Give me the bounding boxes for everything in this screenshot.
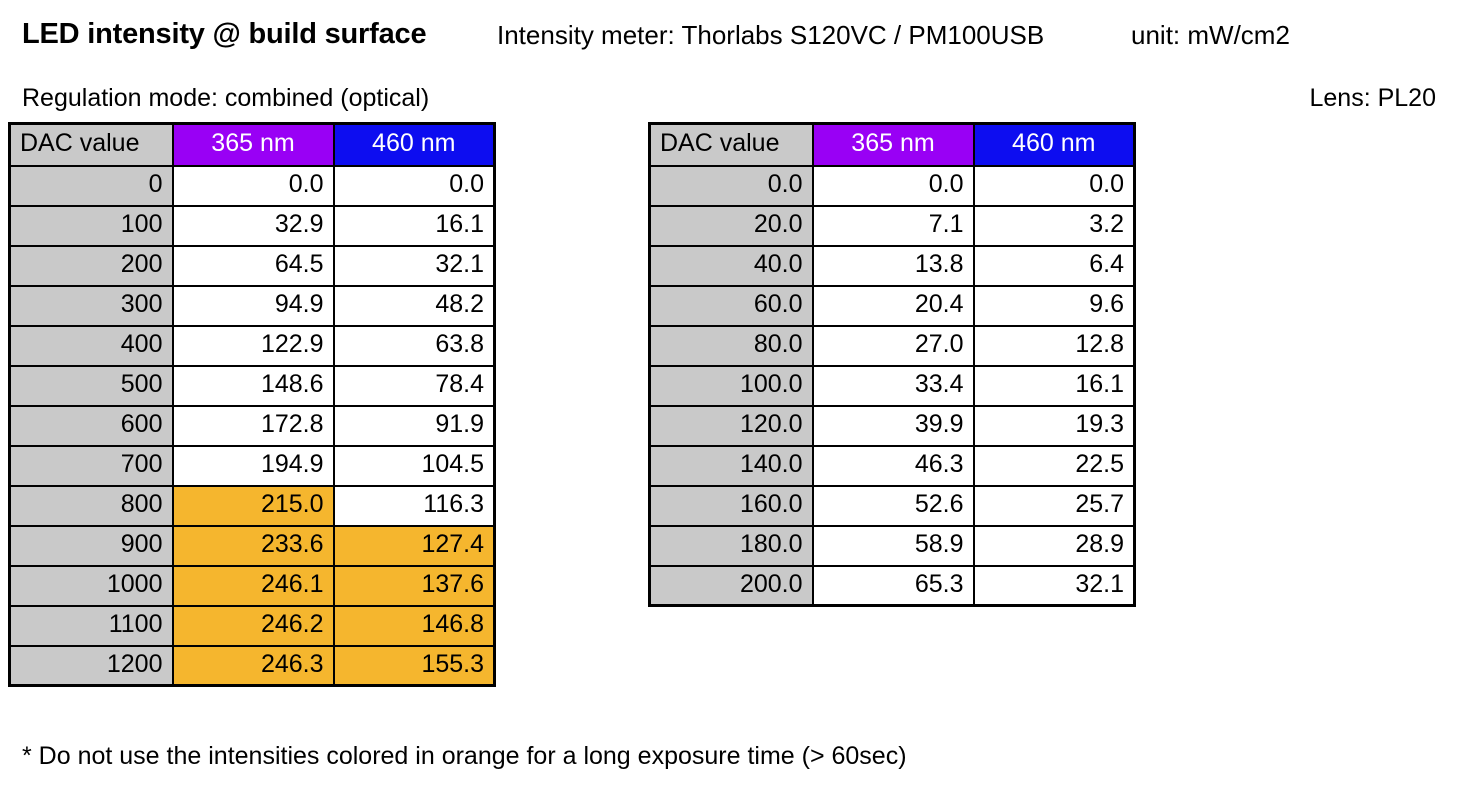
cell-dac-value: 0	[10, 166, 173, 206]
table-row: 180.058.928.9	[650, 526, 1135, 566]
table-row: 60.020.49.6	[650, 286, 1135, 326]
column-header-dac-value: DAC value	[10, 124, 173, 166]
unit-info: unit: mW/cm2	[1131, 20, 1290, 51]
cell-intensity-460nm: 3.2	[974, 206, 1135, 246]
cell-dac-value: 40.0	[650, 246, 813, 286]
lens-label: Lens: PL20	[1310, 84, 1437, 113]
cell-intensity-460nm: 137.6	[334, 566, 495, 606]
table-row: 80.027.012.8	[650, 326, 1135, 366]
table-right-header: DAC value 365 nm 460 nm	[650, 124, 1135, 166]
cell-intensity-460nm: 9.6	[974, 286, 1135, 326]
cell-intensity-460nm: 91.9	[334, 406, 495, 446]
cell-dac-value: 500	[10, 366, 173, 406]
cell-intensity-460nm: 116.3	[334, 486, 495, 526]
cell-intensity-365nm: 52.6	[813, 486, 974, 526]
cell-intensity-365nm: 148.6	[173, 366, 334, 406]
cell-intensity-460nm: 32.1	[334, 246, 495, 286]
table-header-row: DAC value 365 nm 460 nm	[10, 124, 495, 166]
cell-intensity-460nm: 28.9	[974, 526, 1135, 566]
cell-dac-value: 140.0	[650, 446, 813, 486]
led-intensity-table-left: DAC value 365 nm 460 nm 00.00.010032.916…	[8, 122, 496, 687]
table-row: 1100246.2146.8	[10, 606, 495, 646]
table-row: 400122.963.8	[10, 326, 495, 366]
cell-dac-value: 120.0	[650, 406, 813, 446]
table-row: 900233.6127.4	[10, 526, 495, 566]
column-header-460nm: 460 nm	[974, 124, 1135, 166]
regulation-mode-label: Regulation mode: combined (optical)	[22, 84, 429, 113]
cell-intensity-365nm: 20.4	[813, 286, 974, 326]
table-row: 20064.532.1	[10, 246, 495, 286]
cell-intensity-460nm: 155.3	[334, 646, 495, 686]
cell-dac-value: 1100	[10, 606, 173, 646]
table-row: 20.07.13.2	[650, 206, 1135, 246]
cell-intensity-460nm: 104.5	[334, 446, 495, 486]
cell-intensity-365nm: 27.0	[813, 326, 974, 366]
cell-intensity-365nm: 246.2	[173, 606, 334, 646]
cell-intensity-365nm: 58.9	[813, 526, 974, 566]
table-right-body: 0.00.00.020.07.13.240.013.86.460.020.49.…	[650, 166, 1135, 606]
cell-intensity-460nm: 0.0	[974, 166, 1135, 206]
header-band: LED intensity @ build surface Intensity …	[0, 0, 1466, 66]
orange-warning-footnote: * Do not use the intensities colored in …	[22, 742, 907, 771]
cell-intensity-460nm: 48.2	[334, 286, 495, 326]
cell-dac-value: 180.0	[650, 526, 813, 566]
cell-intensity-460nm: 32.1	[974, 566, 1135, 606]
cell-intensity-460nm: 146.8	[334, 606, 495, 646]
cell-intensity-365nm: 0.0	[813, 166, 974, 206]
cell-dac-value: 100.0	[650, 366, 813, 406]
cell-intensity-460nm: 63.8	[334, 326, 495, 366]
table-row: 1000246.1137.6	[10, 566, 495, 606]
table-row: 40.013.86.4	[650, 246, 1135, 286]
cell-intensity-365nm: 172.8	[173, 406, 334, 446]
table-left-body: 00.00.010032.916.120064.532.130094.948.2…	[10, 166, 495, 686]
cell-intensity-365nm: 0.0	[173, 166, 334, 206]
cell-dac-value: 20.0	[650, 206, 813, 246]
cell-intensity-460nm: 25.7	[974, 486, 1135, 526]
cell-intensity-365nm: 13.8	[813, 246, 974, 286]
cell-dac-value: 300	[10, 286, 173, 326]
table-row: 100.033.416.1	[650, 366, 1135, 406]
table-row: 1200246.3155.3	[10, 646, 495, 686]
subheader-band: Regulation mode: combined (optical) Lens…	[0, 66, 1466, 116]
cell-intensity-460nm: 22.5	[974, 446, 1135, 486]
table-row: 140.046.322.5	[650, 446, 1135, 486]
cell-dac-value: 1000	[10, 566, 173, 606]
table-row: 500148.678.4	[10, 366, 495, 406]
cell-intensity-460nm: 16.1	[974, 366, 1135, 406]
cell-dac-value: 80.0	[650, 326, 813, 366]
column-header-460nm: 460 nm	[334, 124, 495, 166]
cell-dac-value: 200.0	[650, 566, 813, 606]
cell-intensity-460nm: 78.4	[334, 366, 495, 406]
table-row: 200.065.332.1	[650, 566, 1135, 606]
cell-intensity-365nm: 194.9	[173, 446, 334, 486]
cell-intensity-365nm: 215.0	[173, 486, 334, 526]
table-row: 0.00.00.0	[650, 166, 1135, 206]
cell-intensity-460nm: 127.4	[334, 526, 495, 566]
table-row: 00.00.0	[10, 166, 495, 206]
table-row: 10032.916.1	[10, 206, 495, 246]
column-header-365nm: 365 nm	[813, 124, 974, 166]
cell-intensity-365nm: 94.9	[173, 286, 334, 326]
page-title: LED intensity @ build surface	[22, 18, 426, 51]
cell-intensity-460nm: 19.3	[974, 406, 1135, 446]
table-row: 700194.9104.5	[10, 446, 495, 486]
cell-intensity-365nm: 233.6	[173, 526, 334, 566]
cell-intensity-365nm: 32.9	[173, 206, 334, 246]
table-row: 600172.891.9	[10, 406, 495, 446]
cell-dac-value: 900	[10, 526, 173, 566]
cell-dac-value: 1200	[10, 646, 173, 686]
cell-dac-value: 800	[10, 486, 173, 526]
cell-intensity-365nm: 246.3	[173, 646, 334, 686]
intensity-meter-info: Intensity meter: Thorlabs S120VC / PM100…	[497, 20, 1044, 51]
cell-dac-value: 160.0	[650, 486, 813, 526]
table-row: 800215.0116.3	[10, 486, 495, 526]
cell-intensity-460nm: 12.8	[974, 326, 1135, 366]
led-intensity-table-right: DAC value 365 nm 460 nm 0.00.00.020.07.1…	[648, 122, 1136, 607]
table-row: 30094.948.2	[10, 286, 495, 326]
table-row: 120.039.919.3	[650, 406, 1135, 446]
table-header-row: DAC value 365 nm 460 nm	[650, 124, 1135, 166]
cell-intensity-365nm: 246.1	[173, 566, 334, 606]
cell-dac-value: 400	[10, 326, 173, 366]
cell-dac-value: 100	[10, 206, 173, 246]
cell-dac-value: 700	[10, 446, 173, 486]
cell-intensity-460nm: 6.4	[974, 246, 1135, 286]
cell-intensity-365nm: 33.4	[813, 366, 974, 406]
cell-dac-value: 60.0	[650, 286, 813, 326]
cell-intensity-365nm: 64.5	[173, 246, 334, 286]
cell-dac-value: 600	[10, 406, 173, 446]
column-header-dac-value: DAC value	[650, 124, 813, 166]
table-row: 160.052.625.7	[650, 486, 1135, 526]
cell-intensity-365nm: 39.9	[813, 406, 974, 446]
column-header-365nm: 365 nm	[173, 124, 334, 166]
table-left-header: DAC value 365 nm 460 nm	[10, 124, 495, 166]
cell-intensity-460nm: 0.0	[334, 166, 495, 206]
cell-dac-value: 0.0	[650, 166, 813, 206]
cell-intensity-365nm: 7.1	[813, 206, 974, 246]
cell-intensity-460nm: 16.1	[334, 206, 495, 246]
cell-dac-value: 200	[10, 246, 173, 286]
cell-intensity-365nm: 46.3	[813, 446, 974, 486]
cell-intensity-365nm: 122.9	[173, 326, 334, 366]
cell-intensity-365nm: 65.3	[813, 566, 974, 606]
